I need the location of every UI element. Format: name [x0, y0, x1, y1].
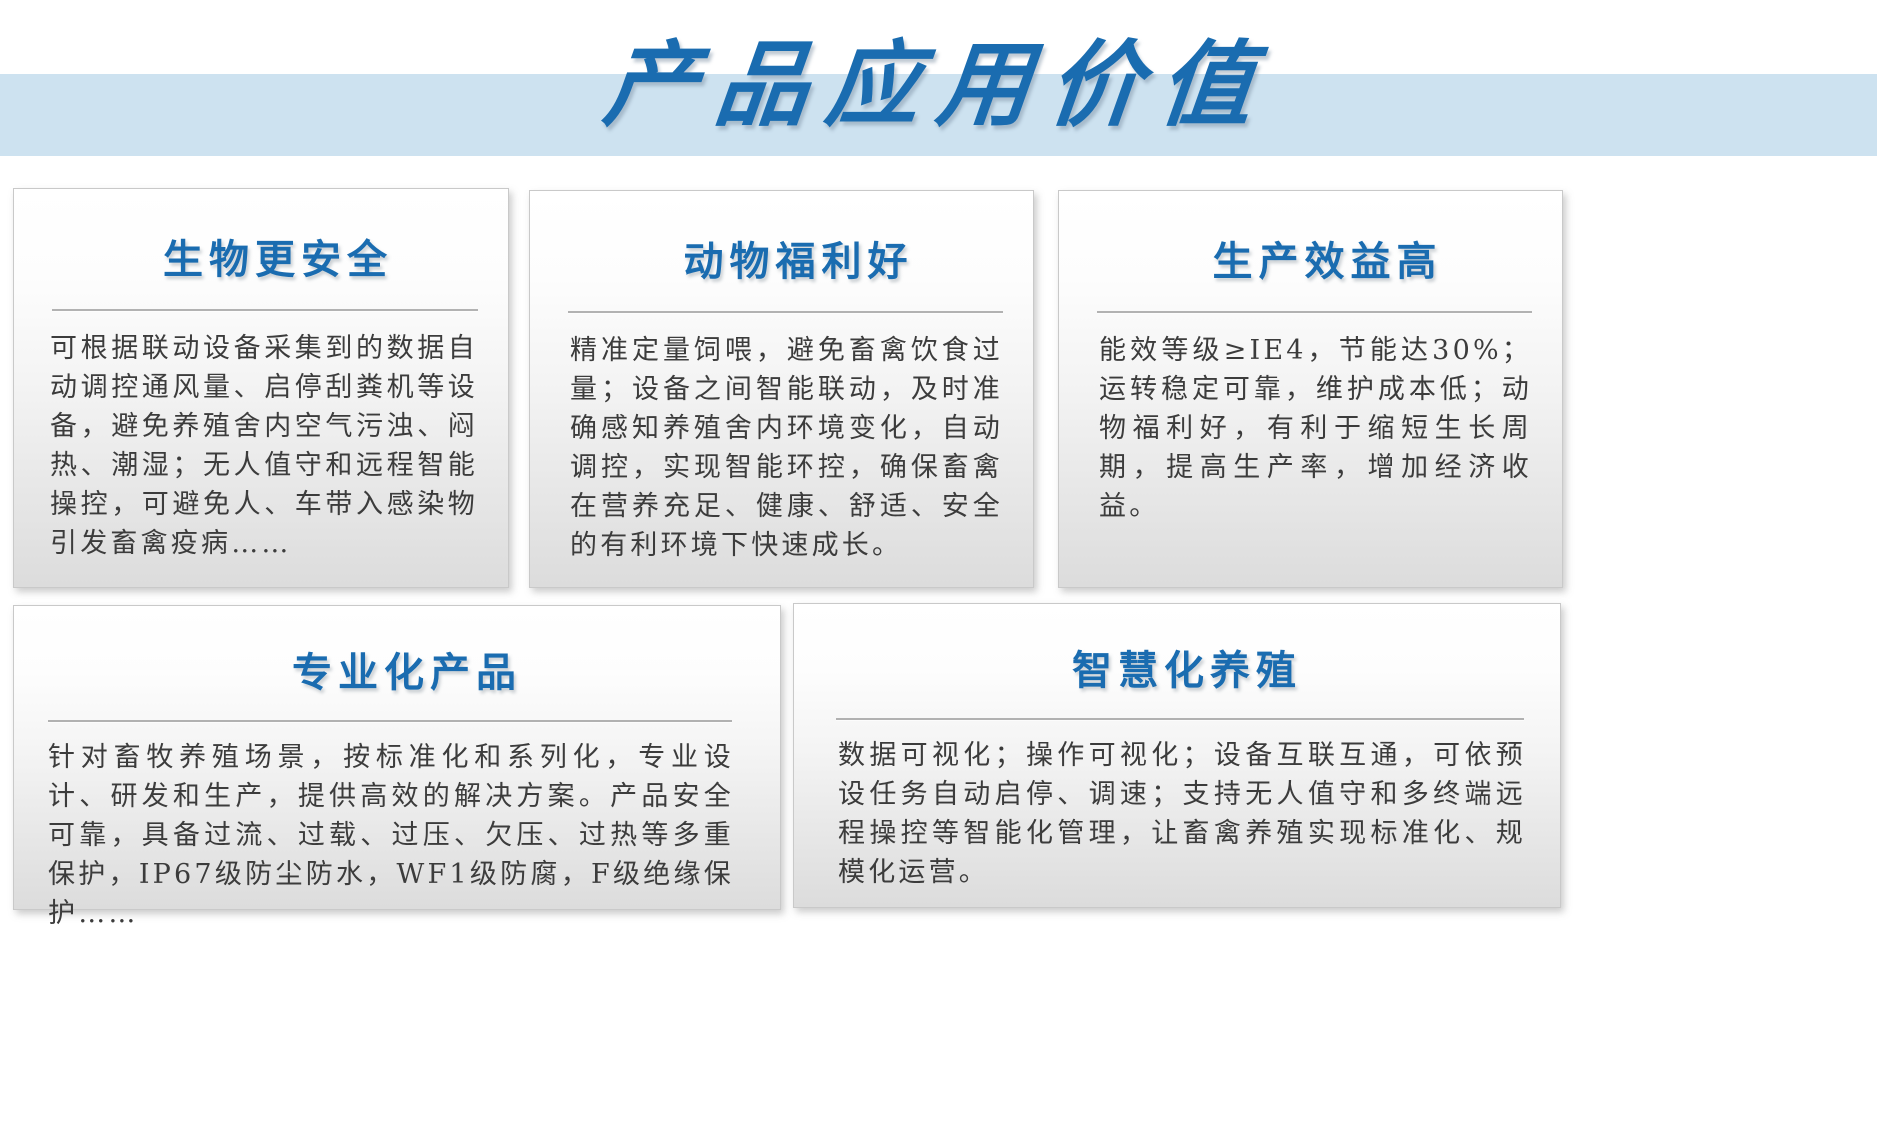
card-divider — [52, 309, 478, 311]
card-title-efficiency: 生产效益高 — [1059, 229, 1562, 287]
feature-card-professional: 专业化产品 针对畜牧养殖场景，按标准化和系列化，专业设计、研发和生产，提供高效的… — [13, 605, 781, 910]
card-body-bio: 可根据联动设备采集到的数据自动调控通风量、启停刮粪机等设备，避免养殖舍内空气污浊… — [50, 329, 478, 563]
card-body-welfare: 精准定量饲喂，避免畜禽饮食过量；设备之间智能联动，及时准确感知养殖舍内环境变化，… — [570, 331, 1003, 565]
card-body-smart: 数据可视化；操作可视化；设备互联互通，可依预设任务自动启停、调速；支持无人值守和… — [838, 736, 1526, 892]
card-divider — [1097, 311, 1532, 313]
card-body-efficiency: 能效等级≥IE4，节能达30%；运转稳定可靠，维护成本低；动物福利好，有利于缩短… — [1099, 331, 1532, 526]
card-title-bio: 生物更安全 — [14, 227, 508, 285]
card-title-professional: 专业化产品 — [14, 640, 780, 698]
page-title: 产品应用价值 — [0, 6, 1877, 146]
card-title-welfare: 动物福利好 — [530, 229, 1033, 287]
card-divider — [836, 718, 1524, 720]
feature-card-smart: 智慧化养殖 数据可视化；操作可视化；设备互联互通，可依预设任务自动启停、调速；支… — [793, 603, 1561, 908]
card-title-smart: 智慧化养殖 — [794, 638, 1560, 696]
card-divider — [568, 311, 1003, 313]
card-body-professional: 针对畜牧养殖场景，按标准化和系列化，专业设计、研发和生产，提供高效的解决方案。产… — [48, 738, 734, 933]
feature-card-efficiency: 生产效益高 能效等级≥IE4，节能达30%；运转稳定可靠，维护成本低；动物福利好… — [1058, 190, 1563, 588]
feature-card-welfare: 动物福利好 精准定量饲喂，避免畜禽饮食过量；设备之间智能联动，及时准确感知养殖舍… — [529, 190, 1034, 588]
feature-card-bio: 生物更安全 可根据联动设备采集到的数据自动调控通风量、启停刮粪机等设备，避免养殖… — [13, 188, 509, 588]
card-divider — [48, 720, 732, 722]
